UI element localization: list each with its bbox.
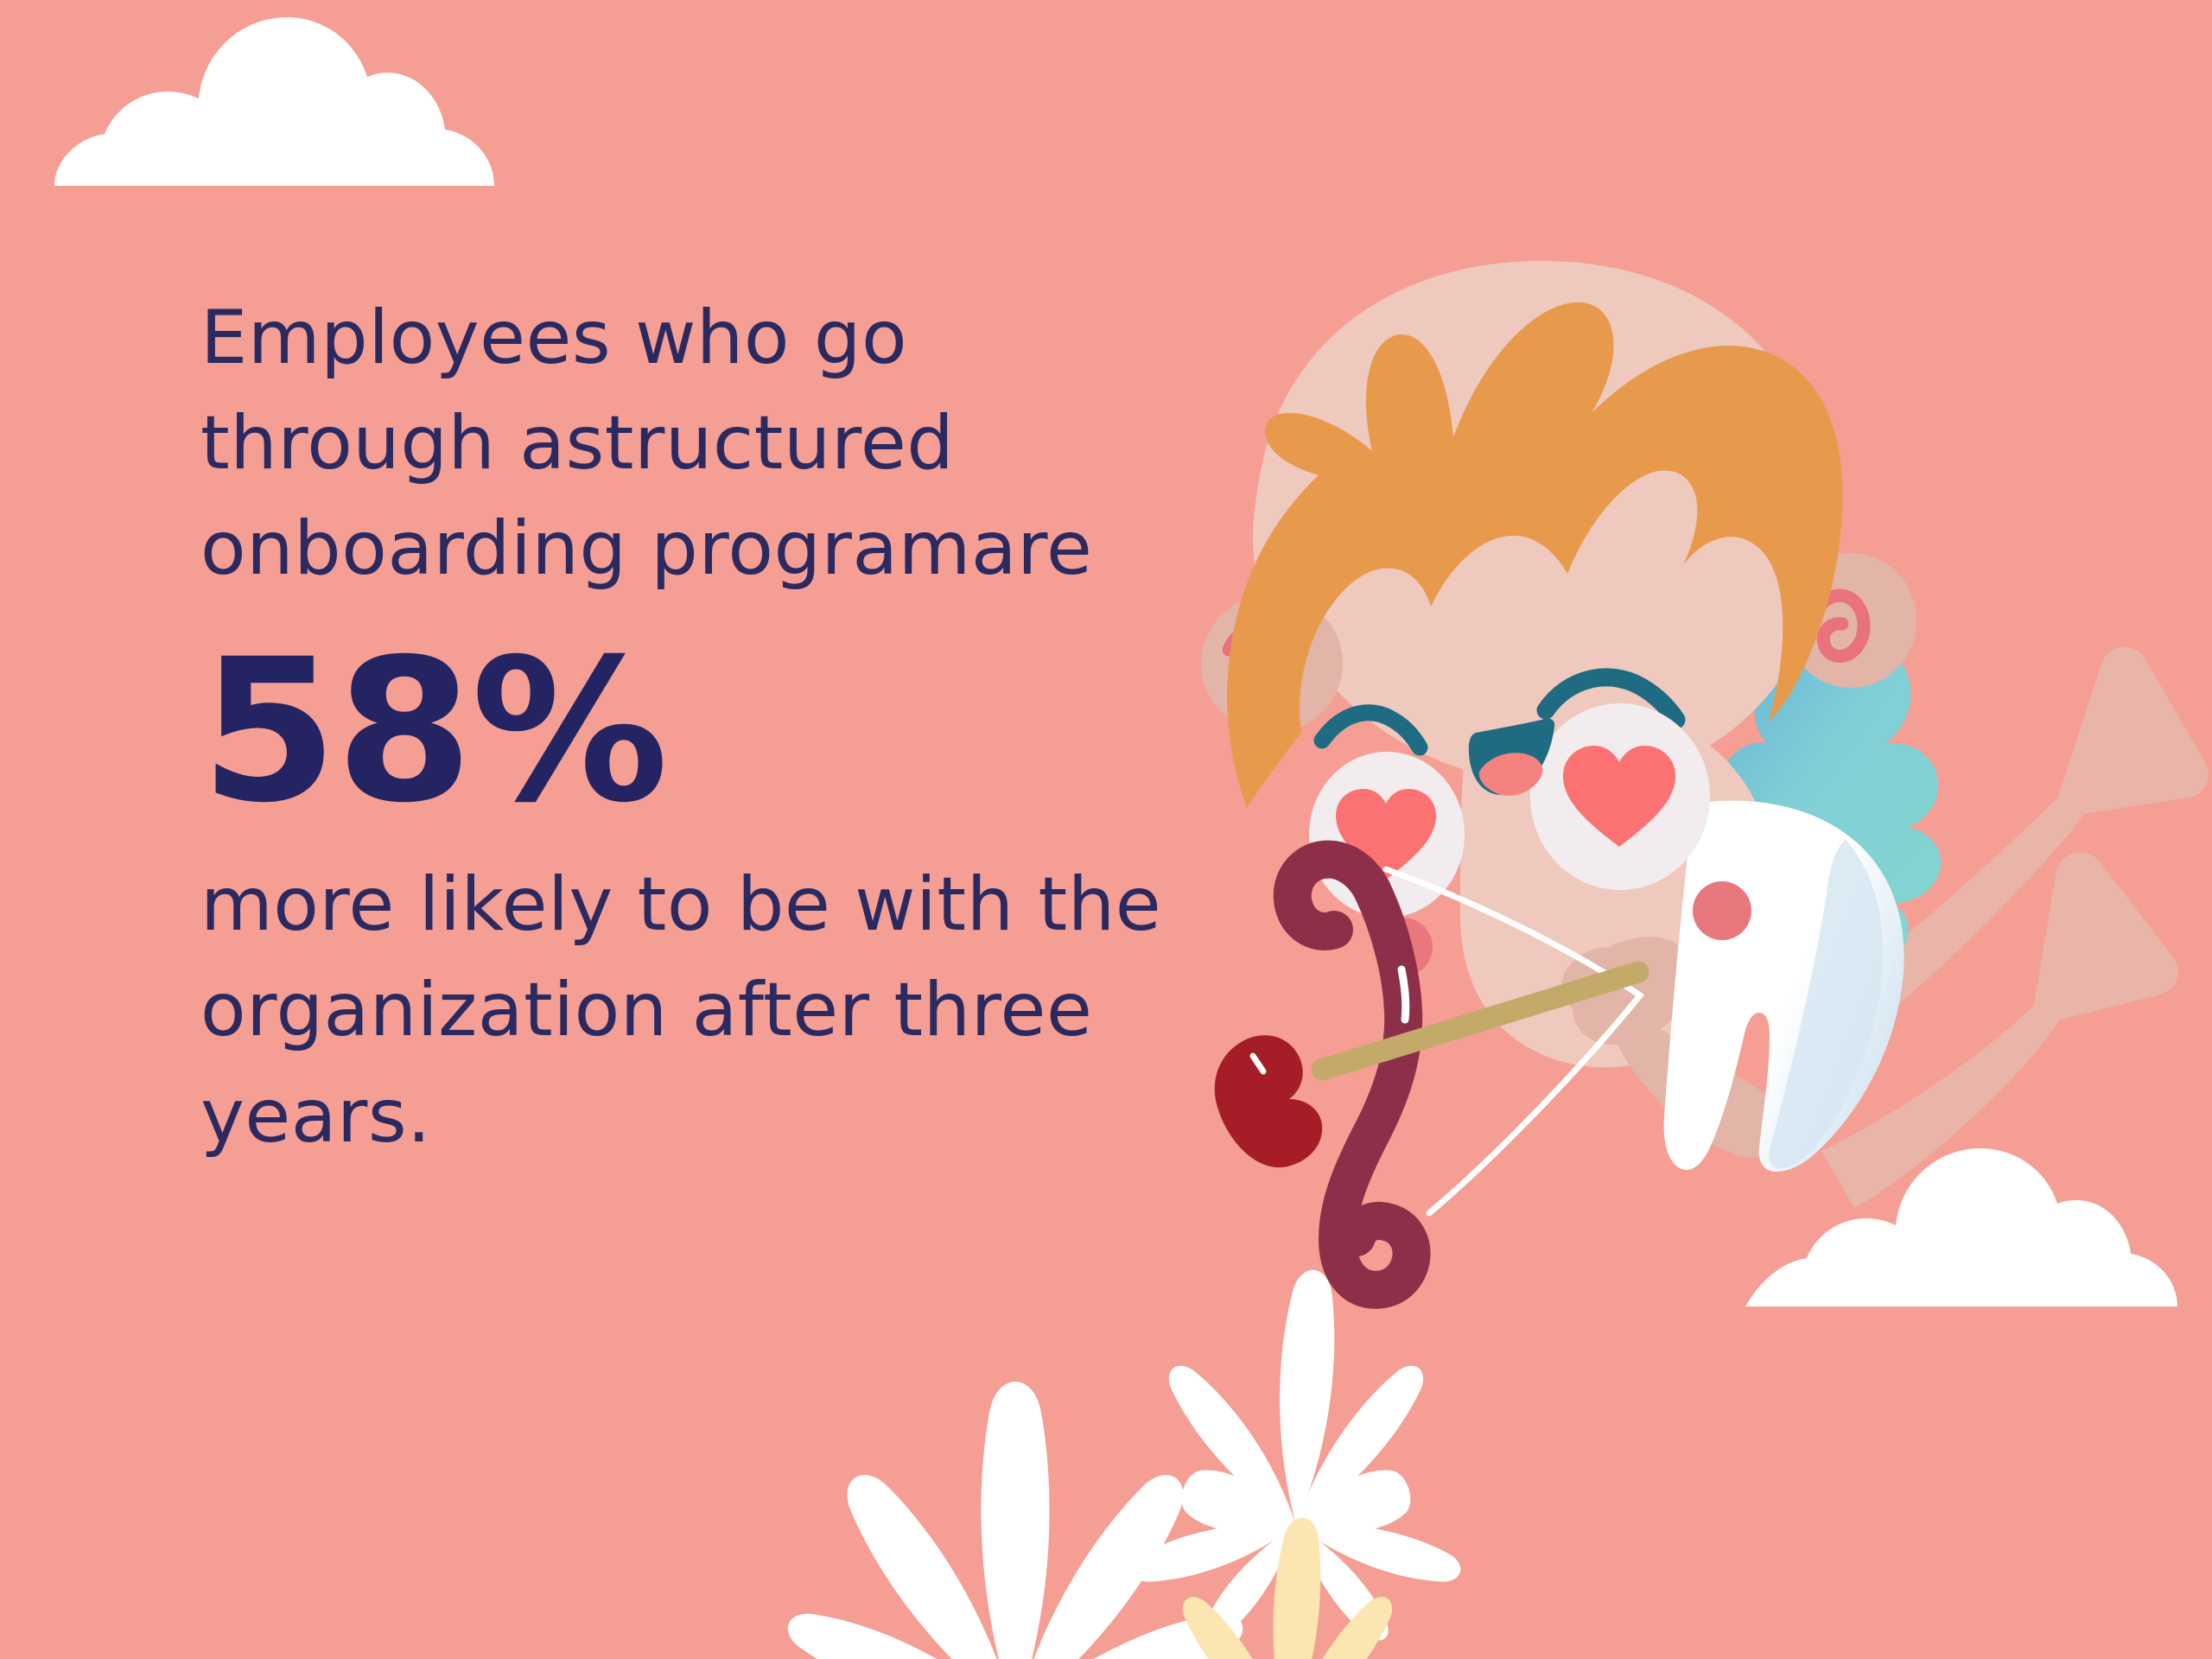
infographic-poster: Employees who go through astructured onb… [0,0,2212,1659]
subline-line-2: organization after three [200,957,1272,1063]
headline-line-3: onboarding programare [200,496,1272,601]
headline-line-1: Employees who go [200,285,1272,391]
cupid-right-eye [1530,703,1710,890]
subline-line-1: more likely to be with the [200,852,1272,957]
subline: more likely to be with the organization … [200,852,1272,1168]
cupid-cloth [1664,801,1904,1172]
statistic-value: 58% [200,632,1272,829]
text-column: Employees who go through astructured onb… [200,285,1272,1169]
subline-line-3: years. [200,1064,1272,1169]
headline: Employees who go through astructured onb… [200,285,1272,601]
headline-line-2: through astructured [200,391,1272,496]
